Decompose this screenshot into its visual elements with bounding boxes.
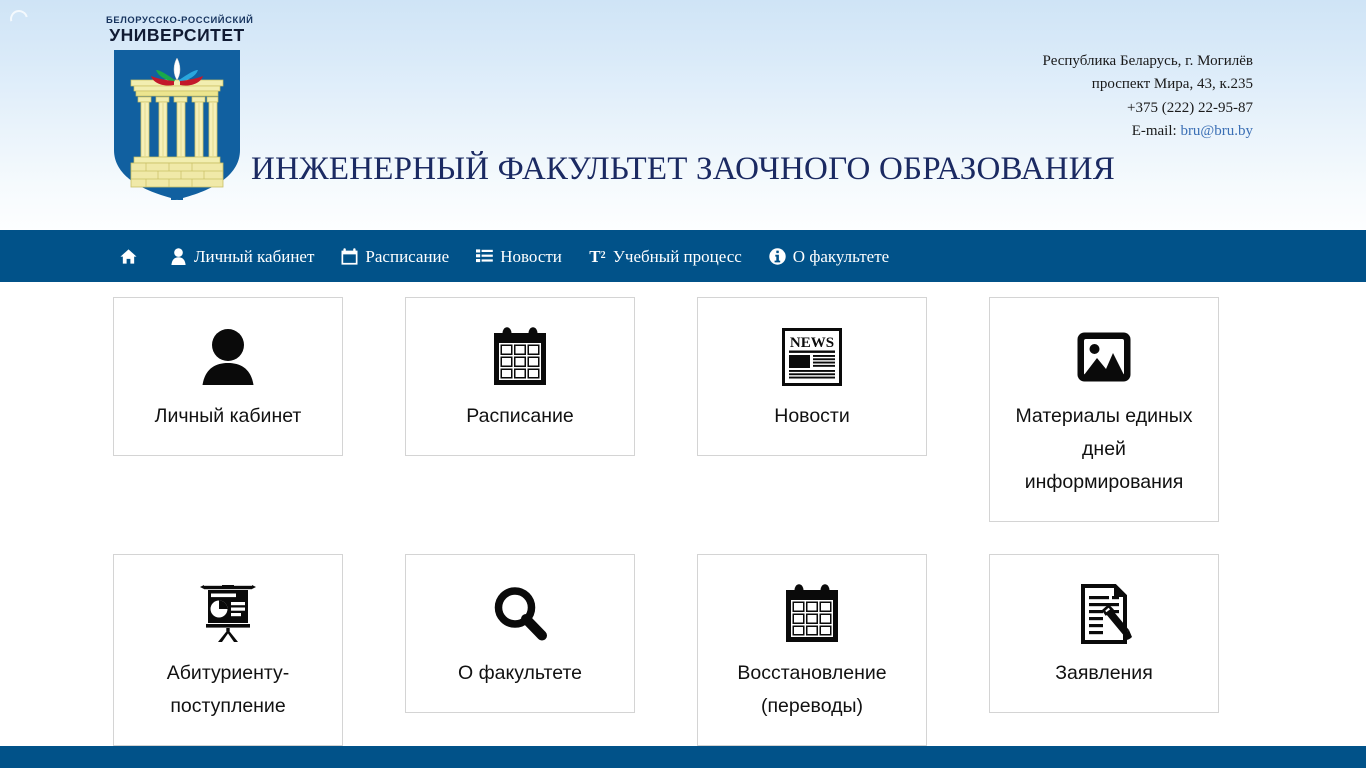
logo-line-1: БЕЛОРУССКО-РОССИЙСКИЙ <box>106 14 246 25</box>
card-grid: Личный кабинет <box>113 282 1253 746</box>
contact-address-1: Республика Беларусь, г. Могилёв <box>1043 50 1253 73</box>
main-content: Личный кабинет <box>0 282 1366 746</box>
contact-address-2: проспект Мира, 43, к.235 <box>1043 73 1253 96</box>
card-label: Новости <box>710 400 914 433</box>
svg-text:NEWS: NEWS <box>790 335 834 351</box>
card-about-faculty[interactable]: О факультете <box>405 554 635 713</box>
calendar-icon <box>710 583 914 645</box>
grid-cell: Заявления <box>989 554 1219 746</box>
calendar-icon <box>341 248 358 265</box>
card-label: Восстановление (переводы) <box>710 657 914 723</box>
main-navigation: Личный кабинет Расписание <box>0 230 1366 282</box>
grid-cell: Восстановление (переводы) <box>697 554 927 746</box>
newspaper-icon: NEWS <box>710 326 914 388</box>
document-pencil-icon <box>1002 583 1206 645</box>
card-reinstatement-transfers[interactable]: Восстановление (переводы) <box>697 554 927 746</box>
nav-label-about-faculty: О факультете <box>793 248 889 265</box>
page-header: БЕЛОРУССКО-РОССИЙСКИЙ УНИВЕРСИТЕТ <box>0 0 1366 230</box>
grid-cell: Расписание <box>405 297 635 522</box>
contact-phone: +375 (222) 22-95-87 <box>1043 97 1253 120</box>
nav-item-schedule[interactable]: Расписание <box>341 248 449 265</box>
presentation-chart-icon <box>126 583 330 645</box>
grid-cell: Абитуриенту-поступление <box>113 554 343 746</box>
nav-label-study-process: Учебный процесс <box>613 248 742 265</box>
nav-item-news[interactable]: Новости <box>476 248 562 265</box>
contact-email-row: E-mail: bru@bru.by <box>1043 120 1253 143</box>
card-schedule[interactable]: Расписание <box>405 297 635 456</box>
list-icon <box>476 248 493 265</box>
grid-cell: Личный кабинет <box>113 297 343 522</box>
nav-item-study-process[interactable]: T2 Учебный процесс <box>589 248 742 265</box>
card-applications[interactable]: Заявления <box>989 554 1219 713</box>
card-news[interactable]: NEWS Новости <box>697 297 927 456</box>
home-icon <box>120 248 137 265</box>
user-icon <box>126 326 330 388</box>
page-footer <box>0 746 1366 768</box>
contact-email-label: E-mail: <box>1132 123 1177 139</box>
card-label: Расписание <box>418 400 622 433</box>
nav-item-personal-cabinet[interactable]: Личный кабинет <box>170 248 314 265</box>
card-information-day-materials[interactable]: Материалы единых дней информирования <box>989 297 1219 522</box>
contact-info: Республика Беларусь, г. Могилёв проспект… <box>1043 50 1253 144</box>
nav-item-home[interactable] <box>120 248 144 265</box>
t2-icon: T2 <box>589 248 606 265</box>
loading-spinner-icon <box>7 7 32 32</box>
contact-email-link[interactable]: bru@bru.by <box>1180 123 1253 139</box>
calendar-icon <box>418 326 622 388</box>
grid-cell: Материалы единых дней информирования <box>989 297 1219 522</box>
nav-label-news: Новости <box>500 248 562 265</box>
card-applicant-admission[interactable]: Абитуриенту-поступление <box>113 554 343 746</box>
card-label: Материалы единых дней информирования <box>1002 400 1206 499</box>
nav-item-about-faculty[interactable]: О факультете <box>769 248 889 265</box>
page-title: ИНЖЕНЕРНЫЙ ФАКУЛЬТЕТ ЗАОЧНОГО ОБРАЗОВАНИ… <box>0 148 1366 190</box>
image-icon <box>1002 326 1206 388</box>
card-label: Абитуриенту-поступление <box>126 657 330 723</box>
nav-label-personal-cabinet: Личный кабинет <box>194 248 314 265</box>
card-personal-cabinet[interactable]: Личный кабинет <box>113 297 343 456</box>
card-label: О факультете <box>418 657 622 690</box>
card-label: Заявления <box>1002 657 1206 690</box>
magnifier-icon <box>418 583 622 645</box>
card-label: Личный кабинет <box>126 400 330 433</box>
grid-cell: NEWS Новости <box>697 297 927 522</box>
grid-cell: О факультете <box>405 554 635 746</box>
logo-line-2: УНИВЕРСИТЕТ <box>108 25 246 45</box>
user-icon <box>170 248 187 265</box>
nav-label-schedule: Расписание <box>365 248 449 265</box>
info-circle-icon <box>769 248 786 265</box>
